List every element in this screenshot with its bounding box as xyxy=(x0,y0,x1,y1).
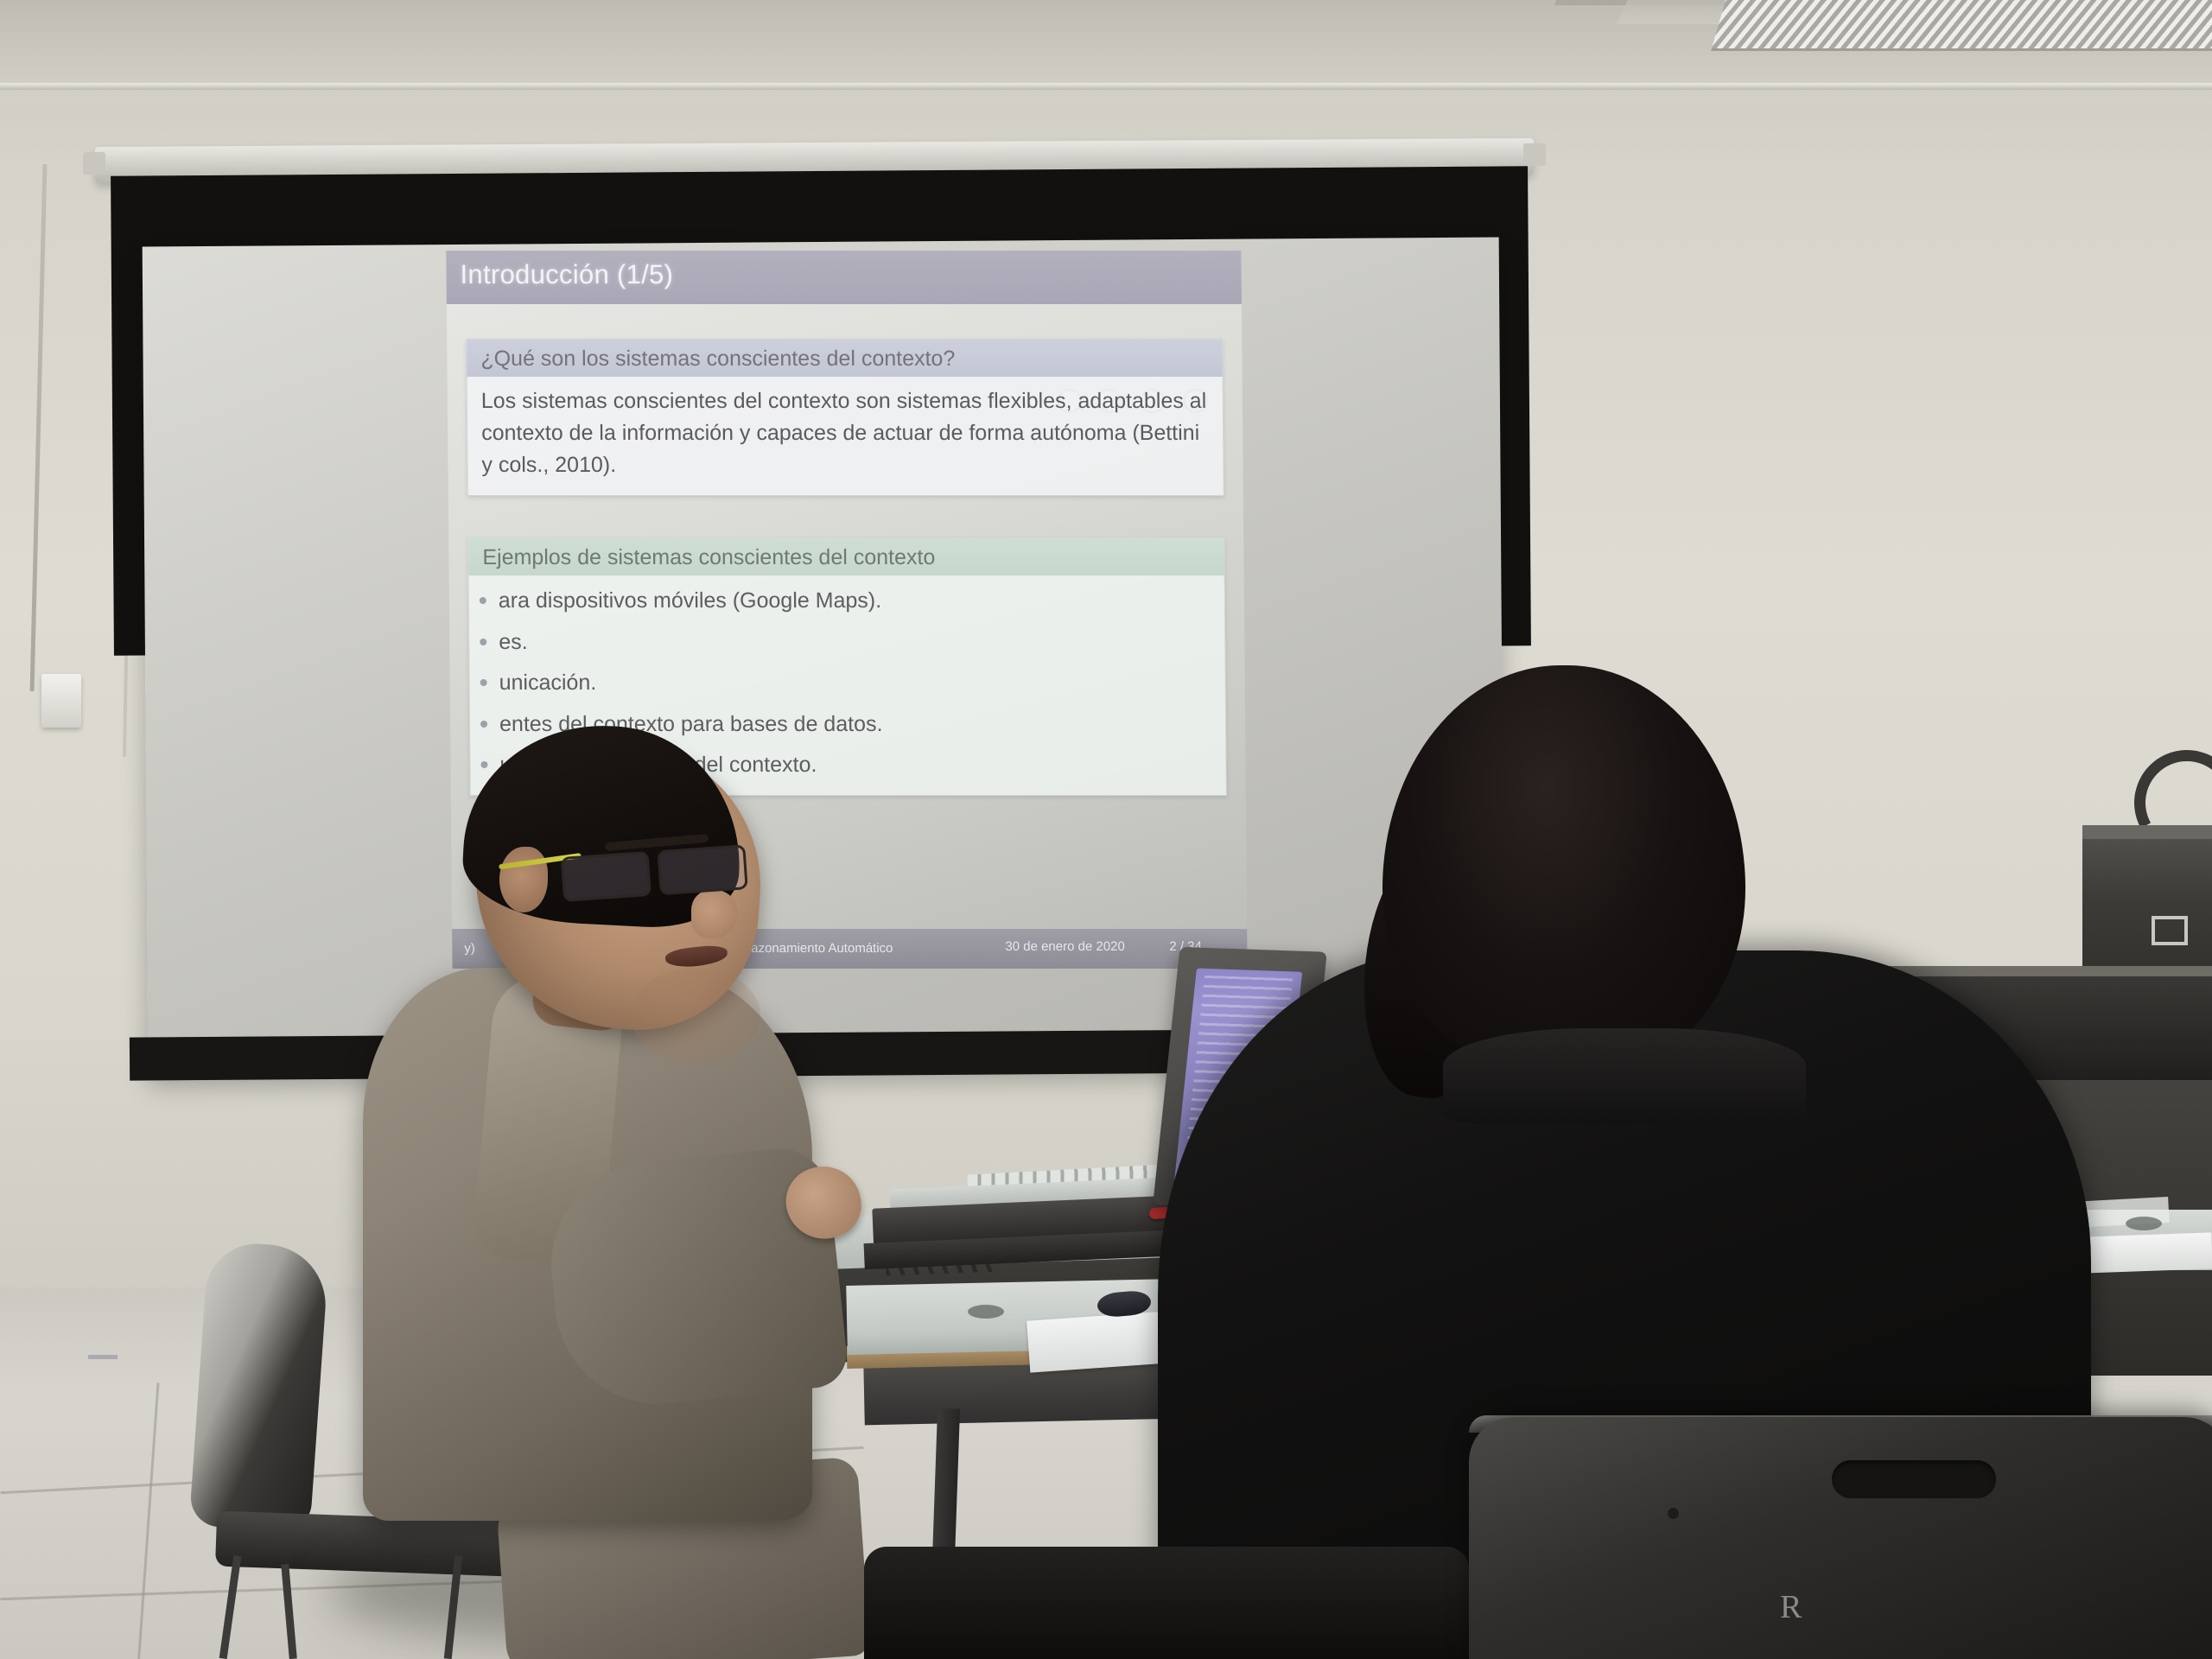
screen-cord-handle[interactable] xyxy=(41,674,81,728)
chair-foreground-right[interactable] xyxy=(1469,1417,2212,1659)
slide-block-definition: ¿Qué son los sistemas conscientes del co… xyxy=(466,339,1224,496)
bag-clip-icon xyxy=(2152,916,2188,945)
chair-handle-slot[interactable] xyxy=(1832,1460,1996,1498)
chair-marking-label: R xyxy=(1780,1588,1802,1626)
footer-date: 30 de enero de 2020 xyxy=(1005,939,1125,954)
presenter-ear xyxy=(499,847,548,912)
cord-handle-label xyxy=(88,1355,118,1359)
ceiling-light-diffuser-icon xyxy=(1711,0,2212,51)
glasses-lens xyxy=(561,851,652,902)
housing-end-cap xyxy=(83,152,105,175)
desk-grommet xyxy=(968,1305,1004,1319)
slide-title: Introducción (1/5) xyxy=(460,259,673,290)
list-item: ara dispositivos móviles (Google Maps). xyxy=(499,581,1211,621)
chair-rivet xyxy=(1668,1508,1679,1519)
attendee-collar xyxy=(1443,1028,1806,1123)
chair-behind-presenter[interactable] xyxy=(189,1241,330,1534)
ceiling-edge xyxy=(0,83,2212,90)
presenter xyxy=(346,864,881,1659)
block-heading: ¿Qué son los sistemas conscientes del co… xyxy=(467,340,1222,377)
block-heading: Ejemplos de sistemas conscientes del con… xyxy=(468,538,1224,575)
glasses-lens xyxy=(657,844,747,895)
housing-end-cap xyxy=(1523,143,1546,166)
block-body-text: Los sistemas conscientes del contexto so… xyxy=(467,377,1224,495)
attendee-hair xyxy=(1382,665,1745,1071)
classroom-photo: Introducción (1/5) ¿Qué son los sistemas… xyxy=(0,0,2212,1659)
presenter-jaw xyxy=(631,968,760,1063)
list-item: es. xyxy=(499,621,1211,662)
chair-foreground-center[interactable] xyxy=(864,1547,1469,1659)
list-item: unicación. xyxy=(499,663,1211,703)
